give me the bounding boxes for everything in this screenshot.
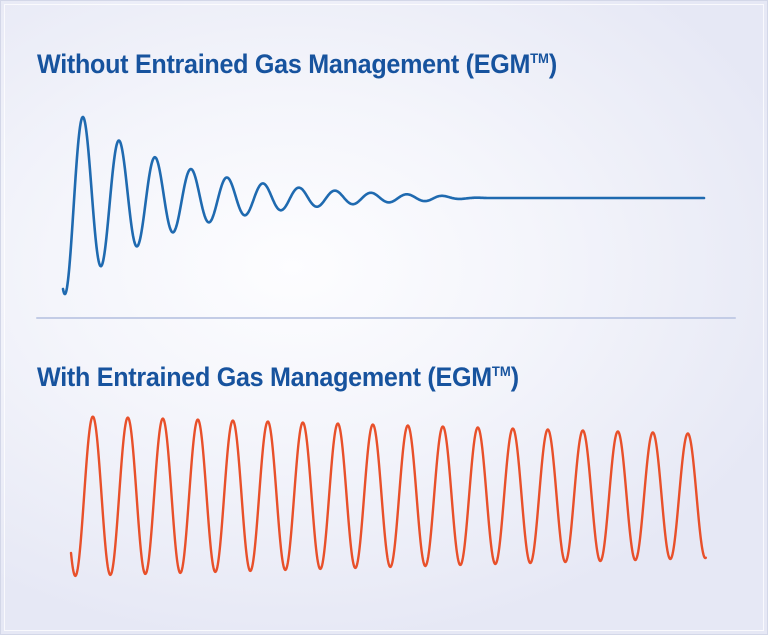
panel-title-without-egm: Without Entrained Gas Management (EGMTM) xyxy=(37,49,557,80)
panel-with-egm: With Entrained Gas Management (EGMTM) xyxy=(1,321,768,635)
figure-canvas: Without Entrained Gas Management (EGMTM)… xyxy=(0,0,768,635)
panel-title-without-egm-text: Without Entrained Gas Management (EGM xyxy=(37,49,530,79)
panel-without-egm: Without Entrained Gas Management (EGMTM) xyxy=(1,1,768,313)
sustained-oscillation-line xyxy=(71,417,706,576)
damped-oscillation-waveform xyxy=(1,89,768,304)
damped-oscillation-line xyxy=(63,117,704,294)
panel-title-with-egm-suffix: ) xyxy=(511,362,519,392)
panel-title-without-egm-suffix: ) xyxy=(549,49,557,79)
trademark-symbol-with: TM xyxy=(492,363,511,379)
panel-title-with-egm: With Entrained Gas Management (EGMTM) xyxy=(37,362,519,393)
trademark-symbol-without: TM xyxy=(530,50,549,66)
sustained-oscillation-waveform xyxy=(1,401,768,631)
panel-title-with-egm-text: With Entrained Gas Management (EGM xyxy=(37,362,492,392)
panel-divider xyxy=(36,317,736,319)
